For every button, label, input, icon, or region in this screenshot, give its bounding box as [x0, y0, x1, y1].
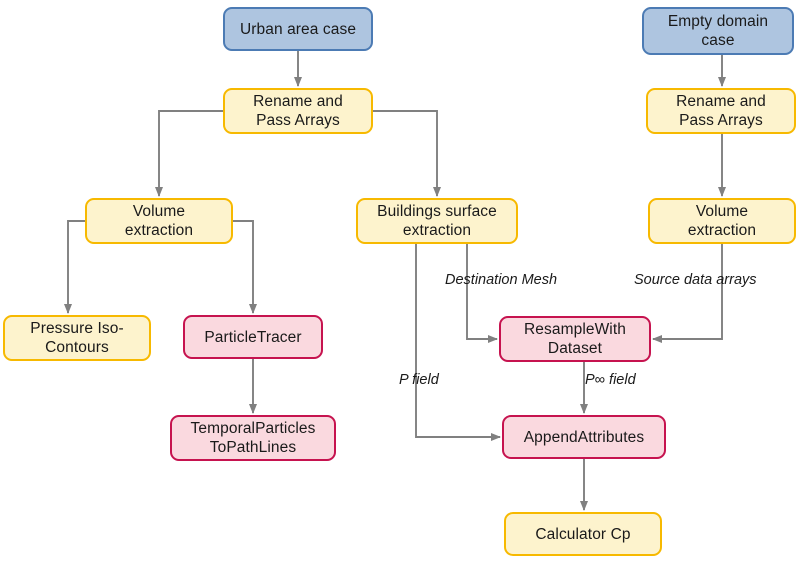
node-volume-extraction-right[interactable]: Volume extraction — [648, 198, 796, 244]
node-particle-tracer[interactable]: ParticleTracer — [183, 315, 323, 359]
edge-rename-to-buildings — [373, 111, 437, 196]
node-volume-extraction-left[interactable]: Volume extraction — [85, 198, 233, 244]
node-empty-domain-case[interactable]: Empty domain case — [642, 7, 794, 55]
node-resample-with-dataset[interactable]: ResampleWith Dataset — [499, 316, 651, 362]
edge-label-p-field: P field — [399, 372, 439, 388]
edge-volume-to-pressure-iso — [68, 221, 85, 313]
node-append-attributes[interactable]: AppendAttributes — [502, 415, 666, 459]
edge-rename-to-volume-left — [159, 111, 223, 196]
node-pressure-iso-contours[interactable]: Pressure Iso- Contours — [3, 315, 151, 361]
node-urban-area-case[interactable]: Urban area case — [223, 7, 373, 51]
node-calculator-cp[interactable]: Calculator Cp — [504, 512, 662, 556]
node-rename-pass-arrays-right[interactable]: Rename and Pass Arrays — [646, 88, 796, 134]
node-buildings-surface-extraction[interactable]: Buildings surface extraction — [356, 198, 518, 244]
node-rename-pass-arrays-left[interactable]: Rename and Pass Arrays — [223, 88, 373, 134]
edge-buildings-to-resample — [467, 244, 497, 339]
edge-volume-to-particle-tracer — [233, 221, 253, 313]
node-temporal-particles-to-pathlines[interactable]: TemporalParticles ToPathLines — [170, 415, 336, 461]
edge-volume-right-to-resample — [653, 244, 722, 339]
edge-label-p-inf-field: P∞ field — [585, 372, 636, 388]
edge-label-source-data-arrays: Source data arrays — [634, 272, 757, 288]
flowchart-canvas: Urban area case Empty domain case Rename… — [0, 0, 800, 562]
edge-label-destination-mesh: Destination Mesh — [445, 272, 557, 288]
